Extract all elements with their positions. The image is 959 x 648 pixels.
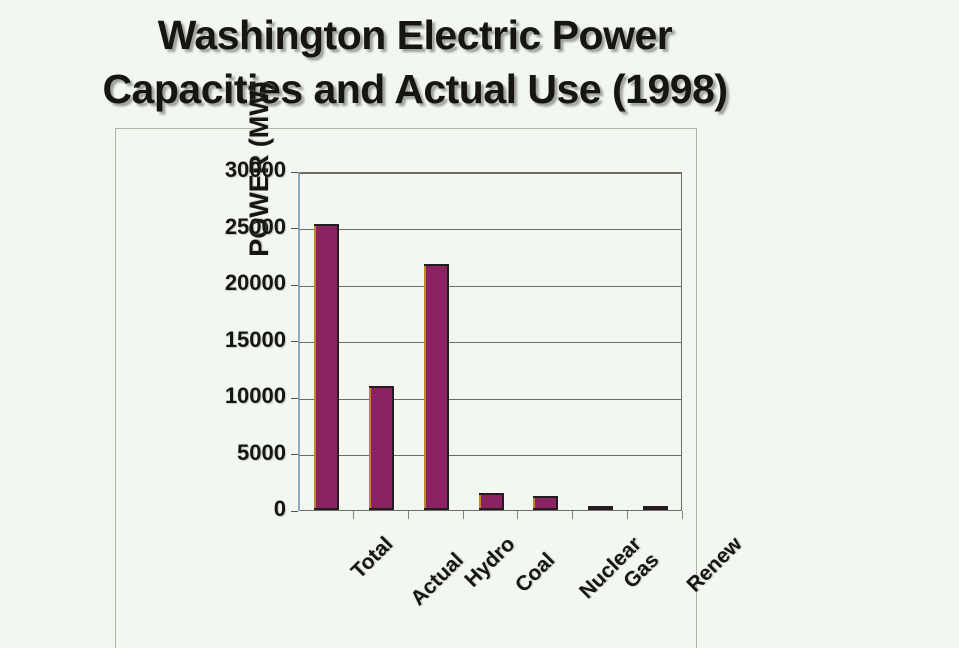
x-axis-label-actual: Actual (407, 549, 469, 611)
gridline (299, 399, 681, 400)
x-axis-tick (682, 511, 683, 519)
y-axis-tick (291, 398, 298, 399)
x-axis-tick (463, 511, 464, 519)
bar-coal (479, 493, 504, 510)
bar-highlight (369, 388, 371, 508)
y-axis-tick-label: 10000 (225, 383, 286, 409)
bar-highlight (479, 495, 481, 508)
gridline (299, 342, 681, 343)
y-axis-tick (291, 285, 298, 286)
bar-highlight (533, 498, 535, 508)
y-axis-tick-labels: 050001000015000200002500030000 (116, 129, 286, 648)
x-axis-tick (408, 511, 409, 519)
bar-total (314, 224, 339, 510)
y-axis-tick-label: 25000 (225, 214, 286, 240)
plot-area (298, 172, 682, 511)
bar-highlight (314, 226, 316, 508)
x-axis-label-total: Total (347, 533, 398, 584)
bar-nuclear (533, 496, 558, 510)
bar-actual (369, 386, 394, 510)
x-axis-tick (572, 511, 573, 519)
y-axis-tick-label: 20000 (225, 270, 286, 296)
y-axis-tick-label: 15000 (225, 327, 286, 353)
y-axis-tick-label: 5000 (237, 440, 286, 466)
gridline (299, 455, 681, 456)
gridline (299, 229, 681, 230)
page-title: Washington Electric Power Capacities and… (0, 8, 830, 116)
y-axis-tick (291, 228, 298, 229)
x-axis-tick (517, 511, 518, 519)
gridline (299, 286, 681, 287)
y-axis-tick (291, 454, 298, 455)
bar-highlight (424, 266, 426, 508)
x-axis-label-coal: Coal (511, 549, 560, 598)
y-axis-tick-label: 30000 (225, 157, 286, 183)
y-axis-tick (291, 511, 298, 512)
y-axis-tick (291, 172, 298, 173)
y-axis-tick-label: 0 (274, 496, 286, 522)
x-axis-label-hydro: Hydro (460, 533, 520, 593)
x-axis-tick (353, 511, 354, 519)
x-axis-tick (627, 511, 628, 519)
bar-renew (643, 506, 668, 510)
chart-container: POWER (MW) 05000100001500020000250003000… (115, 128, 697, 648)
bar-gas (588, 506, 613, 510)
x-axis-label-renew: Renew (682, 533, 747, 598)
gridline (299, 173, 681, 174)
y-axis-tick (291, 341, 298, 342)
bar-hydro (424, 264, 449, 510)
